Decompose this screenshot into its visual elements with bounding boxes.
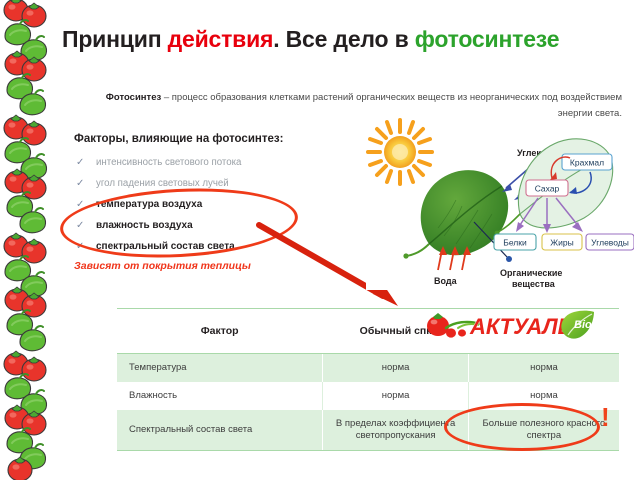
list-item-label: угол падения световых лучей <box>96 178 229 189</box>
check-icon: ✓ <box>76 173 84 194</box>
proteins-box: Белки <box>494 234 536 250</box>
table-row: Спектральный состав света В пределах коэ… <box>117 410 619 451</box>
sun-icon <box>368 120 432 184</box>
title-part-2-highlight: действия <box>168 26 274 52</box>
definition-body: – процесс образования клетками растений … <box>161 92 622 119</box>
organics-label-line2: вещества <box>512 279 556 289</box>
decorative-vegetable-border <box>0 0 52 480</box>
cell-factor: Влажность <box>117 382 323 410</box>
definition-term: Фотосинтез <box>106 92 161 103</box>
fats-label: Жиры <box>550 238 573 248</box>
starch-box: Крахмал <box>562 154 612 170</box>
table-row: Температура норма норма <box>117 354 619 383</box>
cell-regular: норма <box>323 354 469 383</box>
cell-actual: норма <box>468 382 619 410</box>
proteins-label: Белки <box>503 238 527 248</box>
water-label: Вода <box>434 276 458 286</box>
definition-paragraph: Фотосинтез – процесс образования клеткам… <box>82 90 622 122</box>
logo-bio-text: Bio <box>574 319 592 331</box>
cell-factor: Спектральный состав света <box>117 410 323 451</box>
cell-actual: Больше полезного красного спектра <box>468 410 619 451</box>
list-item-label: интенсивность светового потока <box>96 157 241 168</box>
cell-factor: Температура <box>117 354 323 383</box>
check-icon: ✓ <box>76 152 84 173</box>
aktual-bio-logo: АКТУАЛЬ! Bio <box>424 306 596 346</box>
factors-heading: Факторы, влияющие на фотосинтез: <box>74 133 283 145</box>
page-title: Принцип действия. Все дело в фотосинтезе <box>62 26 622 53</box>
carbs-label: Углеводы <box>591 238 629 248</box>
cell-regular: В пределах коэффициента светопропускания <box>323 410 469 451</box>
carbs-box: Углеводы <box>586 234 634 250</box>
column-header-factor: Фактор <box>117 309 323 354</box>
title-part-4-highlight: фотосинтезе <box>415 26 560 52</box>
cell-actual: норма <box>468 354 619 383</box>
title-part-3: . Все дело в <box>273 26 414 52</box>
cell-regular: норма <box>323 382 469 410</box>
list-item: ✓ интенсивность светового потока <box>74 152 324 173</box>
title-part-1: Принцип <box>62 26 168 52</box>
sugar-box: Сахар <box>526 180 568 196</box>
depends-on-cover-note: Зависят от покрытия теплицы <box>74 260 251 272</box>
alert-exclamation: ! <box>601 404 610 430</box>
photosynthesis-diagram: Углекислый газ Вода Органические веществ… <box>366 118 634 290</box>
sugar-label: Сахар <box>535 184 560 194</box>
fats-box: Жиры <box>542 234 582 250</box>
starch-label: Крахмал <box>570 158 604 168</box>
organics-label-line1: Органические <box>500 268 562 278</box>
table-row: Влажность норма норма <box>117 382 619 410</box>
